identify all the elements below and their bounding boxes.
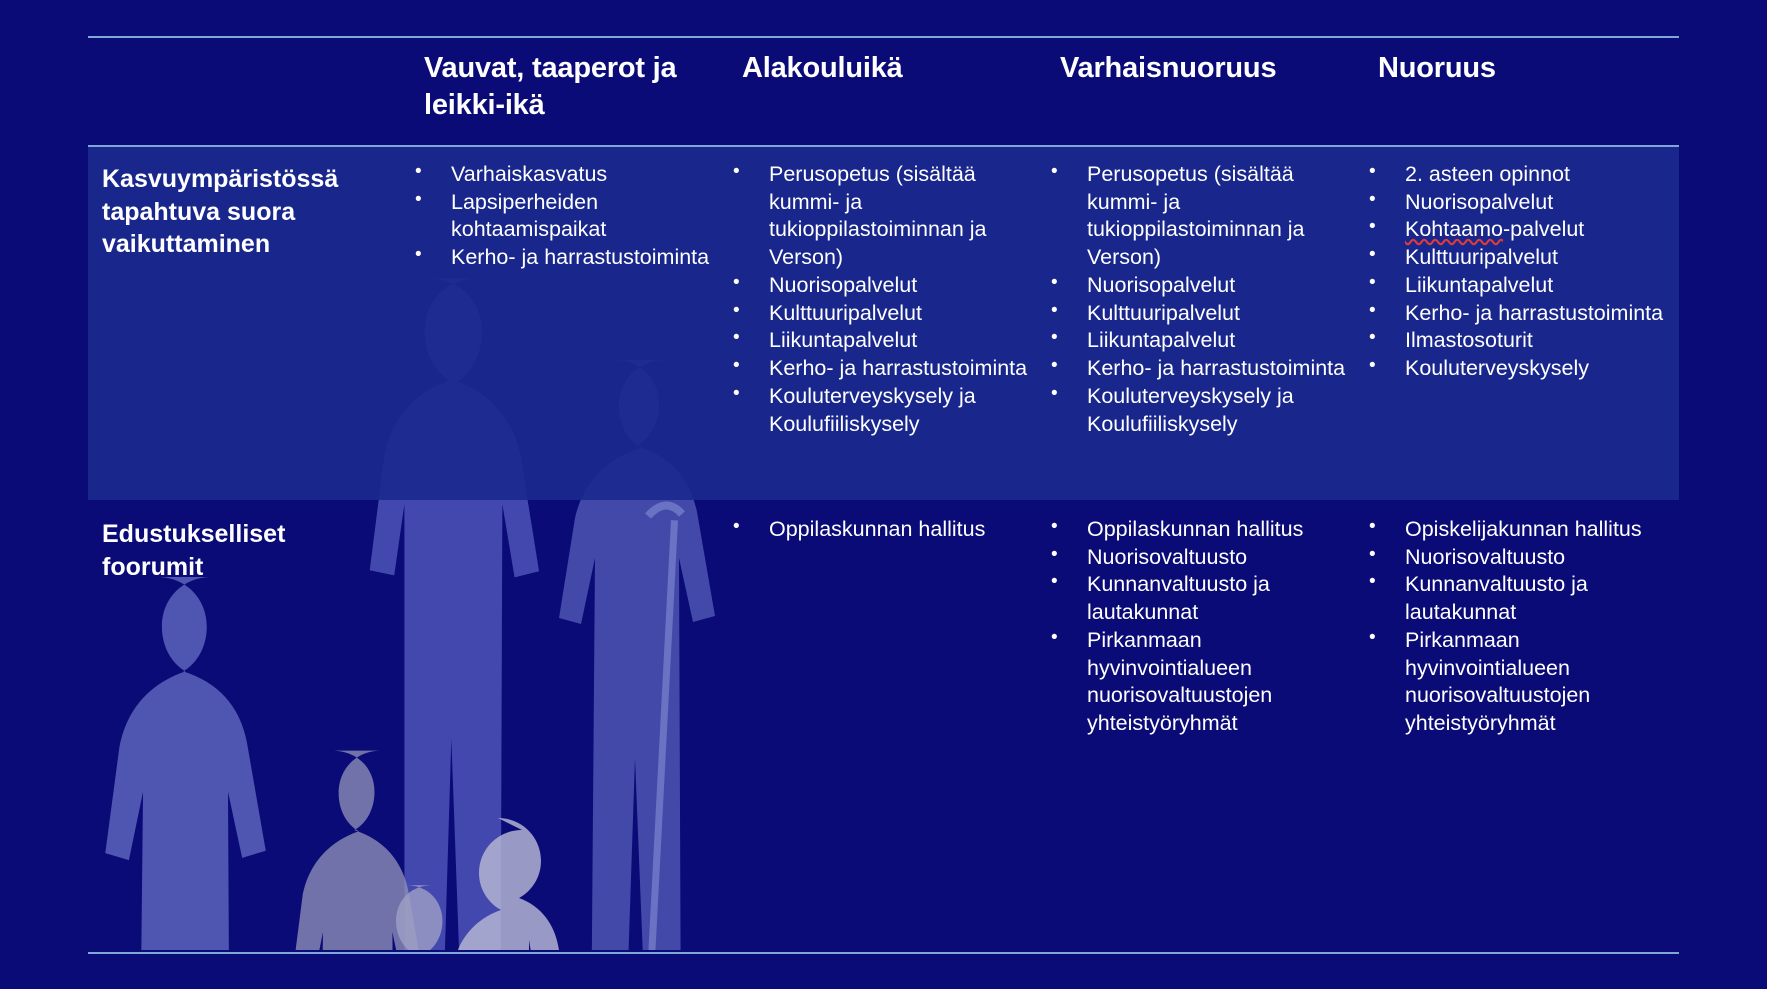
header-cell-alakouluika: Alakouluikä [724,36,1042,145]
age-stage-table: Vauvat, taaperot ja leikki-ikä Alakoului… [88,36,1679,948]
list-item: Ilmastosoturit [1360,327,1665,355]
list-item: Opiskelijakunnan hallitus [1360,516,1665,544]
cell-row2-col4: Opiskelijakunnan hallitusNuorisovaltuust… [1360,498,1679,948]
list-item: Nuorisovaltuusto [1042,544,1346,572]
cell-row2-col1 [406,498,724,948]
list-item: Kunnanvaltuusto ja lautakunnat [1360,571,1665,626]
list-item: 2. asteen opinnot [1360,161,1665,189]
list-item: Pirkanmaan hyvinvointialueen nuorisovalt… [1042,627,1346,738]
list-item: Lapsiperheiden kohtaamispaikat [406,189,710,244]
cell-row1-col4: 2. asteen opinnotNuorisopalvelutKohtaamo… [1360,145,1679,498]
cell-row2-col3: Oppilaskunnan hallitusNuorisovaltuustoKu… [1042,498,1360,948]
list-item: Nuorisopalvelut [724,272,1028,300]
list-item: Kerho- ja harrastustoiminta [1360,300,1665,328]
row-label-kasvuymparisto: Kasvuympäristössä tapahtuva suora vaikut… [88,145,406,498]
header-cell-corner [88,36,406,145]
list-item: Kouluterveyskysely ja Koulufiiliskysely [724,383,1028,438]
list-item: Kulttuuripalvelut [1042,300,1346,328]
list-item: Liikuntapalvelut [1042,327,1346,355]
list-item: Kulttuuripalvelut [1360,244,1665,272]
list-item: Liikuntapalvelut [1360,272,1665,300]
list-item: Kohtaamo-palvelut [1360,216,1665,244]
header-cell-vauvat: Vauvat, taaperot ja leikki-ikä [406,36,724,145]
list-item: Liikuntapalvelut [724,327,1028,355]
cell-row1-col3: Perusopetus (sisältää kummi- ja tukioppi… [1042,145,1360,498]
slide-canvas: Vauvat, taaperot ja leikki-ikä Alakoului… [0,0,1767,989]
table-row: Kasvuympäristössä tapahtuva suora vaikut… [88,145,1679,498]
list-item: Varhaiskasvatus [406,161,710,189]
header-cell-varhaisnuoruus: Varhaisnuoruus [1042,36,1360,145]
list-item: Oppilaskunnan hallitus [724,516,1028,544]
table-row: Edustukselliset foorumit Oppilaskunnan h… [88,498,1679,948]
list-item: Kouluterveyskysely [1360,355,1665,383]
list-item: Perusopetus (sisältää kummi- ja tukioppi… [724,161,1028,272]
list-item: Perusopetus (sisältää kummi- ja tukioppi… [1042,161,1346,272]
rule-bottom [88,952,1679,954]
list-item: Nuorisopalvelut [1042,272,1346,300]
table-header-row: Vauvat, taaperot ja leikki-ikä Alakoului… [88,36,1679,145]
header-cell-nuoruus: Nuoruus [1360,36,1679,145]
cell-row1-col1: VarhaiskasvatusLapsiperheiden kohtaamisp… [406,145,724,498]
list-item: Pirkanmaan hyvinvointialueen nuorisovalt… [1360,627,1665,738]
list-item: Nuorisopalvelut [1360,189,1665,217]
list-item: Oppilaskunnan hallitus [1042,516,1346,544]
cell-row1-col2: Perusopetus (sisältää kummi- ja tukioppi… [724,145,1042,498]
list-item: Nuorisovaltuusto [1360,544,1665,572]
list-item: Kerho- ja harrastustoiminta [406,244,710,272]
list-item: Kunnanvaltuusto ja lautakunnat [1042,571,1346,626]
list-item: Kulttuuripalvelut [724,300,1028,328]
list-item: Kerho- ja harrastustoiminta [1042,355,1346,383]
list-item: Kouluterveyskysely ja Koulufiiliskysely [1042,383,1346,438]
cell-row2-col2: Oppilaskunnan hallitus [724,498,1042,948]
list-item: Kerho- ja harrastustoiminta [724,355,1028,383]
row-label-edustukselliset: Edustukselliset foorumit [88,498,406,948]
